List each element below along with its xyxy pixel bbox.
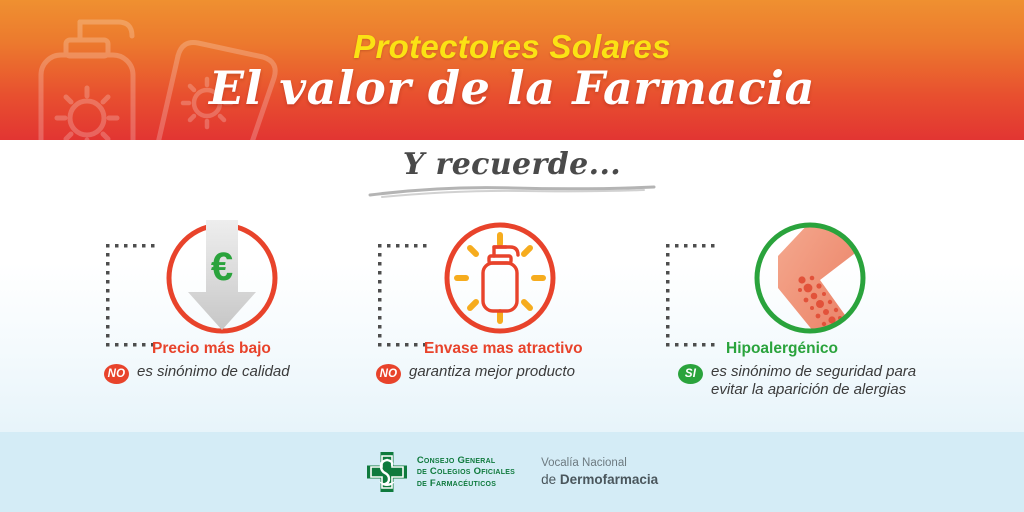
org-line: de Colegios Oficiales — [417, 466, 515, 478]
dotted-bracket — [104, 242, 166, 350]
caption-block: Precio más bajo NO es sinónimo de calida… — [104, 340, 384, 384]
column-body-text: es sinónimo de calidad — [137, 363, 290, 381]
dotted-bracket — [376, 242, 438, 350]
consejo-general-logo: Consejo General de Colegios Oficiales de… — [366, 451, 515, 493]
brush-underline — [362, 184, 662, 198]
column-body-row: NO garantiza mejor producto — [376, 363, 664, 384]
remember-label: Y recuerde... — [403, 150, 621, 180]
org-line: de Farmacéuticos — [417, 478, 515, 490]
column-body-text: garantiza mejor producto — [409, 363, 575, 381]
consejo-general-text: Consejo General de Colegios Oficiales de… — [417, 455, 515, 490]
column-body-row: NO es sinónimo de calidad — [104, 363, 384, 384]
vocalia-block: Vocalía Nacional de Dermofarmacia — [541, 456, 658, 488]
si-badge: SI — [678, 364, 703, 384]
header-subtitle: Protectores Solares — [353, 30, 671, 63]
org-line: Consejo General — [417, 455, 515, 467]
columns-group: € Precio más bajo NO es sinónimo de cali… — [0, 218, 1024, 432]
dotted-bracket — [664, 242, 726, 350]
header-banner: Protectores Solares El valor de la Farma… — [0, 0, 1024, 140]
column-headline: Envase mas atractivo — [424, 340, 664, 357]
vocalia-line-2: de Dermofarmacia — [541, 471, 658, 489]
sunscreen-bottle-rays-icon — [440, 218, 560, 338]
main-content: Y recuerde... — [0, 140, 1024, 432]
header-title-group: Protectores Solares El valor de la Farma… — [0, 0, 1024, 140]
pharmacy-cross-caduceus-icon — [366, 451, 408, 493]
column-headline: Precio más bajo — [152, 340, 384, 357]
no-badge: NO — [376, 364, 401, 384]
vocalia-line-1: Vocalía Nacional — [541, 456, 658, 471]
infographic-poster: Protectores Solares El valor de la Farma… — [0, 0, 1024, 512]
footer-content: Consejo General de Colegios Oficiales de… — [0, 432, 1024, 512]
bottle-outline — [483, 247, 518, 311]
column-headline: Hipoalergénico — [726, 340, 1004, 357]
vocalia-prefix: de — [541, 472, 560, 487]
remember-group: Y recuerde... — [0, 150, 1024, 198]
footer-band: Consejo General de Colegios Oficiales de… — [0, 432, 1024, 512]
no-badge: NO — [104, 364, 129, 384]
column-body-text: es sinónimo de seguridad para evitar la … — [711, 363, 916, 400]
caption-block: Hipoalergénico SI es sinónimo de segurid… — [664, 340, 1004, 400]
euro-symbol: € — [211, 245, 233, 289]
euro-down-arrow-icon: € — [162, 218, 282, 338]
vocalia-name: Dermofarmacia — [560, 472, 658, 487]
elbow-rash-icon — [750, 218, 870, 338]
header-title: El valor de la Farmacia — [209, 65, 815, 111]
column-body-row: SI es sinónimo de seguridad para evitar … — [664, 363, 1004, 400]
caption-block: Envase mas atractivo NO garantiza mejor … — [376, 340, 664, 384]
